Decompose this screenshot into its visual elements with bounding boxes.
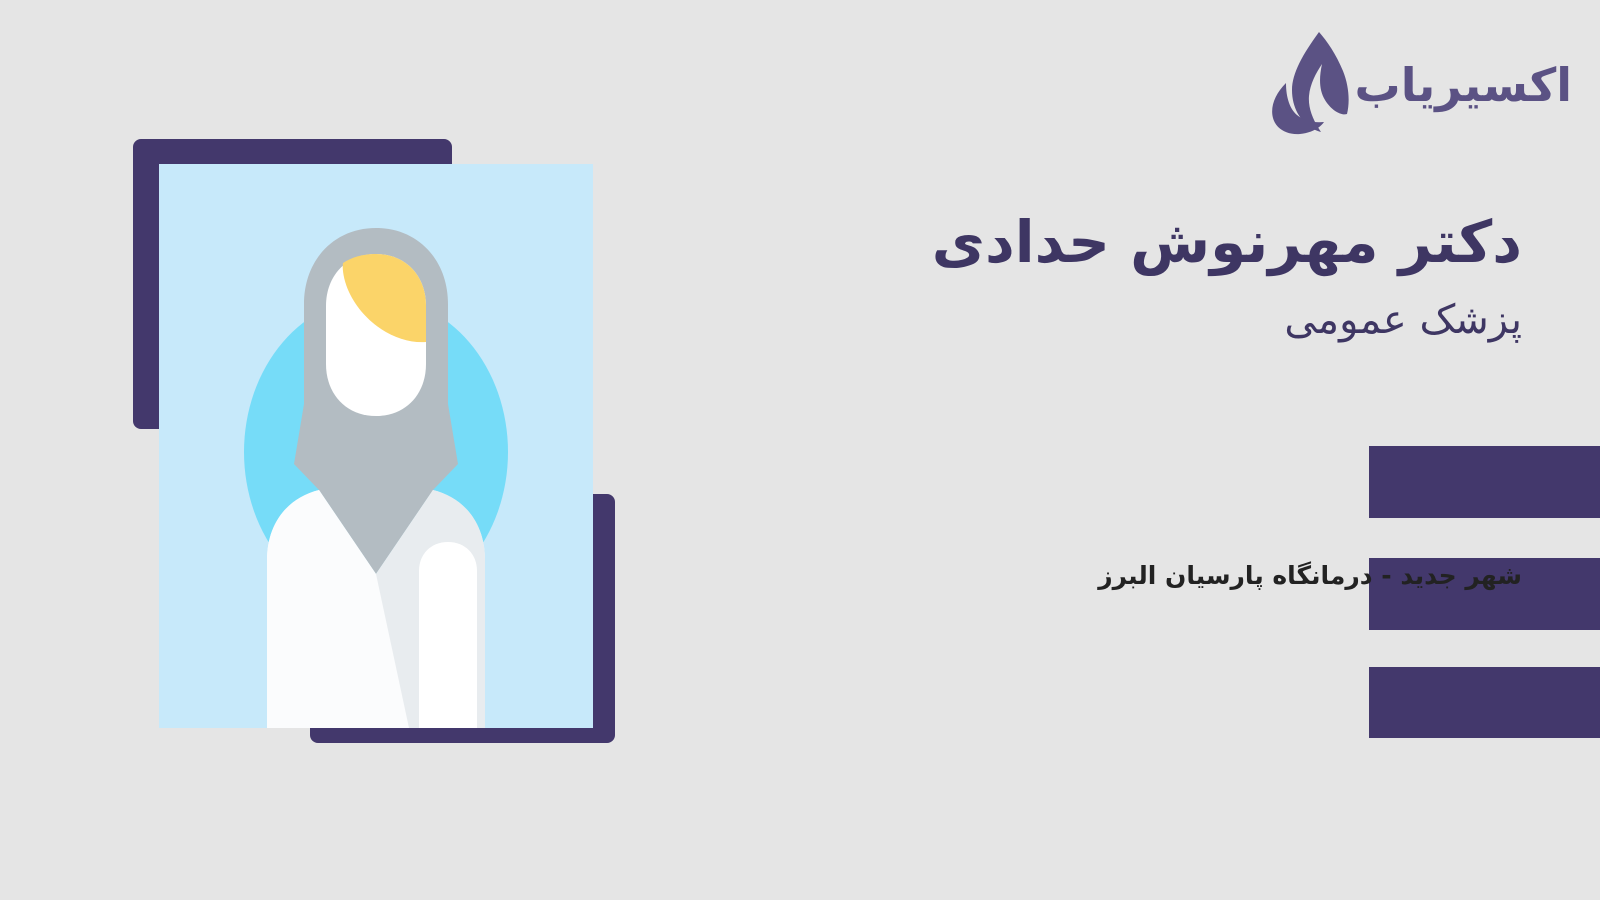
doctor-specialty: پزشک عمومی	[802, 293, 1522, 347]
doctor-text-block: دکتر مهرنوش حدادی پزشک عمومی	[802, 206, 1522, 347]
page-title: دکتر مهرنوش حدادی	[802, 206, 1522, 279]
female-doctor-avatar-icon	[159, 164, 593, 728]
flame-droplet-icon	[1259, 28, 1351, 138]
doctor-profile-card: اکسیریاب	[0, 0, 1600, 900]
decor-bar-3	[1369, 667, 1600, 738]
clinic-address: شهر جدید - درمانگاه پارسیان البرز	[902, 560, 1522, 593]
brand-logo[interactable]: اکسیریاب	[1259, 28, 1573, 138]
doctor-illustration	[133, 139, 615, 743]
decor-bar-1	[1369, 446, 1600, 518]
doctor-photo-plate	[159, 164, 593, 728]
brand-wordmark: اکسیریاب	[1355, 62, 1573, 108]
